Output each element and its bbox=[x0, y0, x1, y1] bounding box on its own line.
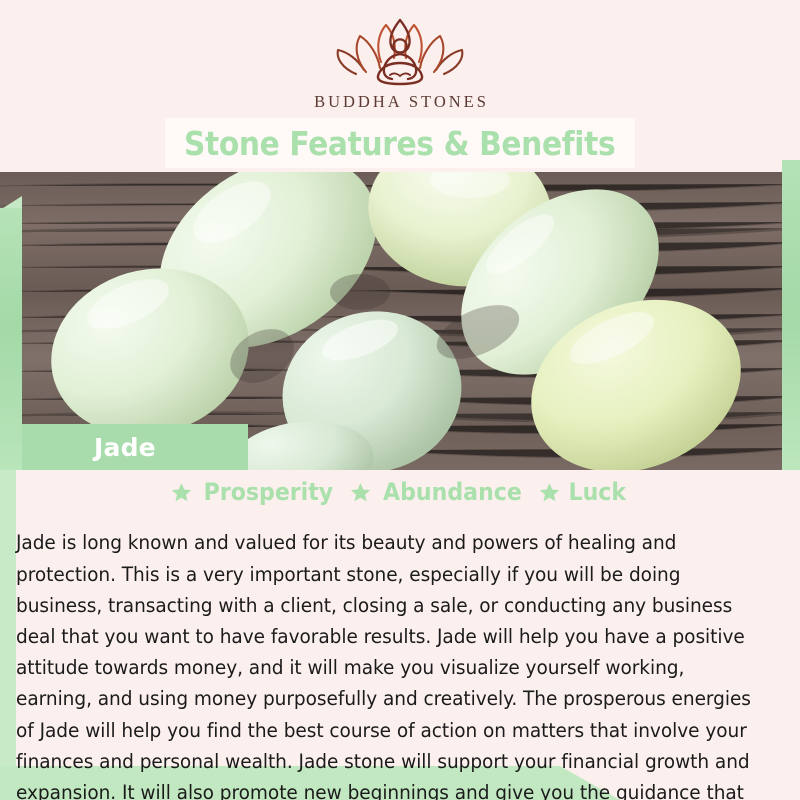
benefit-item-2: Luck bbox=[539, 478, 629, 506]
benefit-item-1: Abundance bbox=[350, 478, 528, 506]
star-icon bbox=[539, 482, 560, 503]
brand-wordmark: BUDDHA STONES bbox=[0, 92, 800, 112]
page-title: Stone Features & Benefits bbox=[184, 124, 615, 163]
left-accent-bar bbox=[0, 208, 22, 470]
brand-logo: BUDDHA STONES bbox=[0, 16, 800, 112]
body-left-accent-bar bbox=[0, 470, 16, 766]
right-accent-bar bbox=[782, 160, 800, 470]
lotus-meditation-figure-icon bbox=[326, 16, 474, 88]
stone-name-badge: Jade bbox=[22, 424, 248, 470]
benefit-label-2: Luck bbox=[569, 478, 627, 506]
title-plate: Stone Features & Benefits bbox=[165, 118, 635, 168]
benefits-row: Prosperity Abundance Luck bbox=[0, 478, 800, 506]
stone-benefits-poster: BUDDHA STONES bbox=[0, 0, 800, 800]
star-icon bbox=[171, 482, 192, 503]
stone-name-label: Jade bbox=[94, 433, 156, 462]
star-icon bbox=[350, 482, 371, 503]
description-text: Jade is long known and valued for its be… bbox=[16, 527, 759, 800]
benefit-label-1: Abundance bbox=[383, 478, 522, 506]
benefit-label-0: Prosperity bbox=[204, 478, 334, 506]
benefit-item-0: Prosperity bbox=[171, 478, 339, 506]
